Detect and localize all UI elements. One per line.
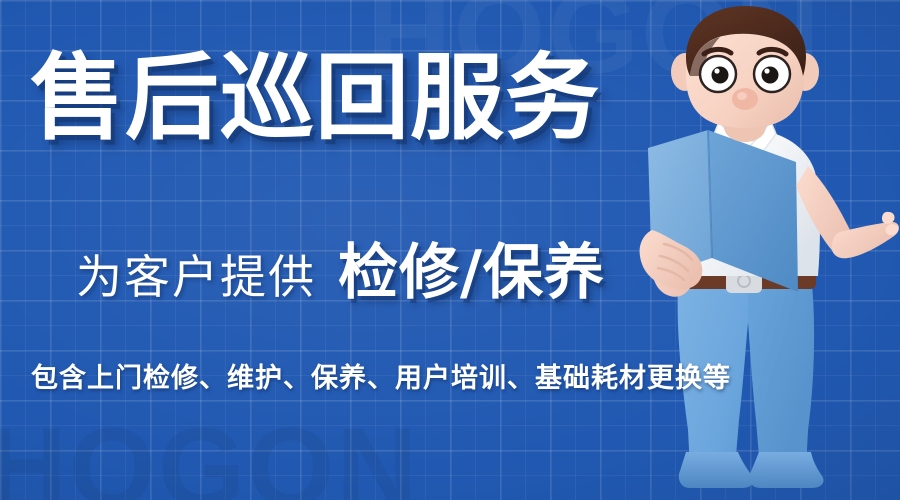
banner-footer-line: 包含上门检修、维护、保养、用户培训、基础耗材更换等 — [31, 365, 731, 392]
character-illustration — [600, 0, 900, 500]
banner-subtitle: 为客户提供 检修/保养 — [76, 243, 605, 303]
nose — [732, 88, 758, 110]
subtitle-light-text: 为客户提供 — [76, 254, 316, 300]
banner-title: 售后巡回服务 — [30, 52, 600, 146]
subtitle-strong-text: 检修/保养 — [338, 243, 605, 303]
service-banner: HOGON HOGON — [0, 0, 900, 500]
watermark-bottom: HOGON — [0, 412, 419, 500]
shoes-group — [679, 452, 824, 488]
